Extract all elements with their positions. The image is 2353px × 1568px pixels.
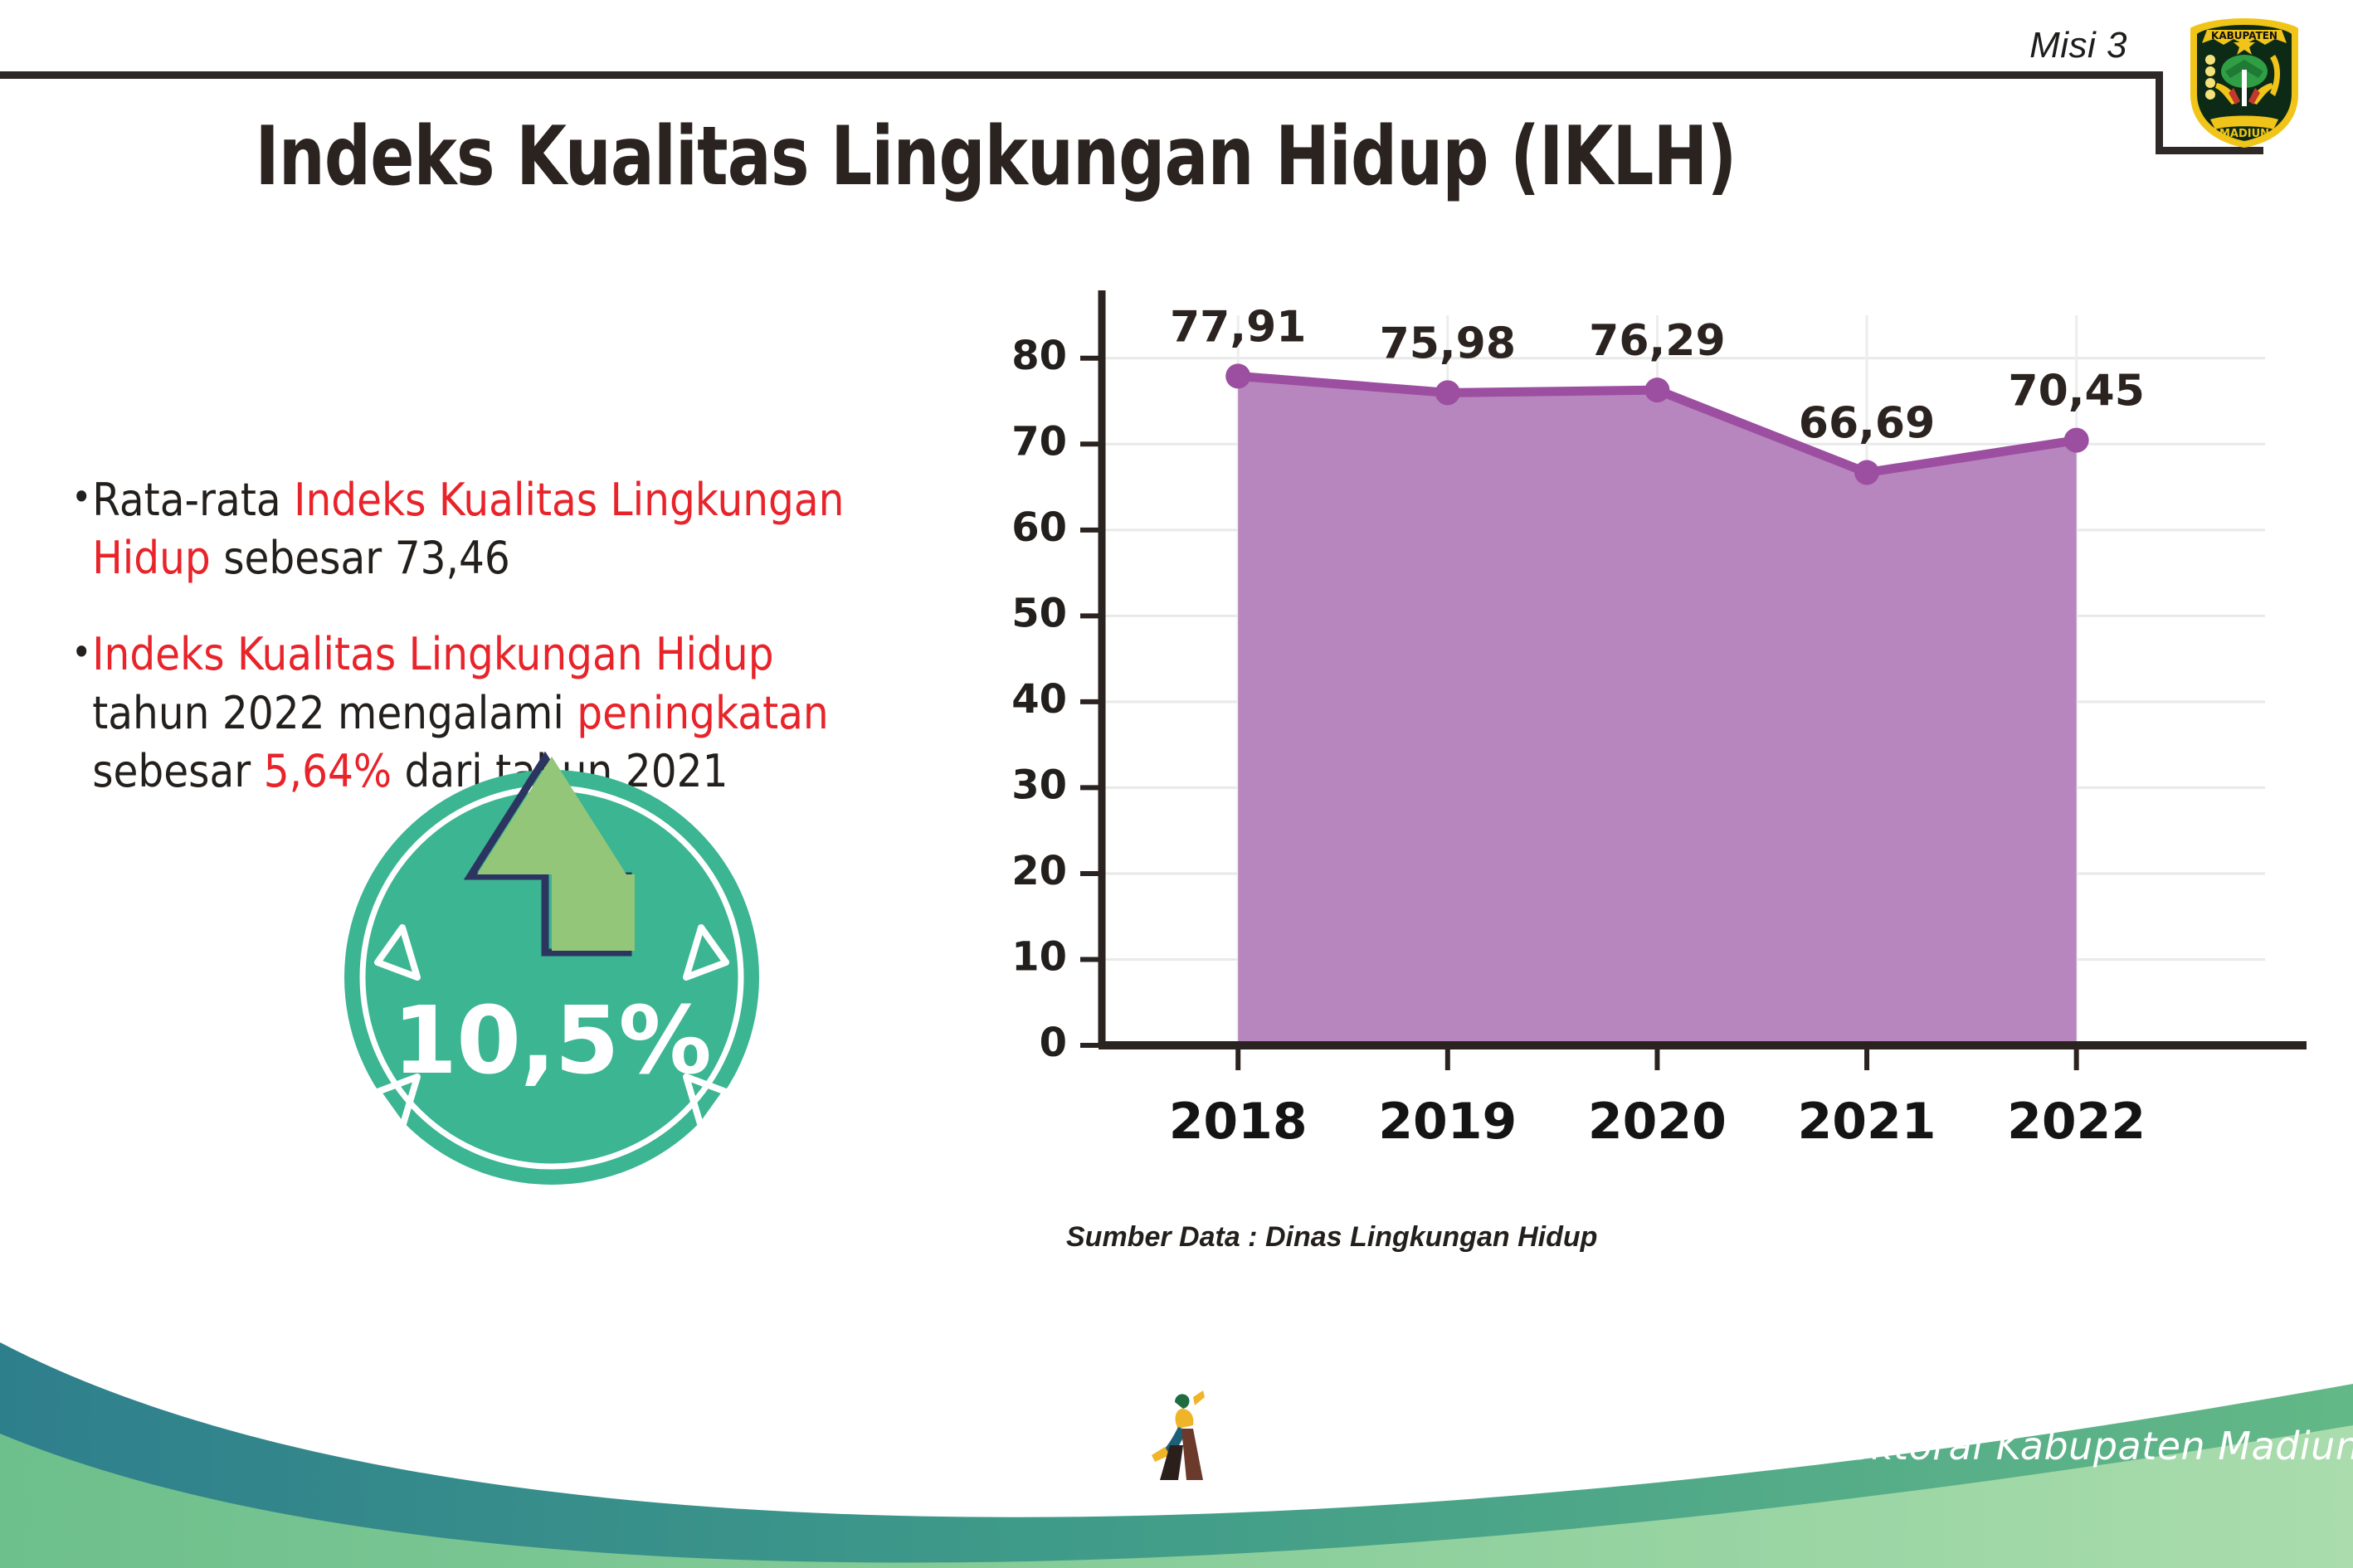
bullet-segment: sebesar 73,46 bbox=[211, 532, 510, 584]
bullet-text: Rata-rata Indeks Kualitas Lingkungan Hid… bbox=[71, 471, 885, 587]
data-point-marker bbox=[1435, 380, 1460, 405]
x-axis-category-label: 2022 bbox=[2007, 1093, 2146, 1151]
data-point-label: 70,45 bbox=[2008, 367, 2144, 416]
bullet-marker: • bbox=[71, 628, 91, 678]
data-point-marker bbox=[1225, 363, 1250, 388]
data-point-label: 76,29 bbox=[1589, 316, 1725, 366]
data-point-marker bbox=[1854, 460, 1879, 485]
crest-bottom-text: MADIUN bbox=[2219, 128, 2269, 140]
page-title: Indeks Kualitas Lingkungan Hidup (IKLH) bbox=[199, 110, 1792, 204]
y-axis-tick-label: 30 bbox=[1011, 762, 1067, 808]
footer-caption: Media Infografis Data Statistik Sektoral… bbox=[1220, 1424, 2353, 1468]
data-point-marker bbox=[2064, 428, 2089, 453]
x-axis-category-label: 2020 bbox=[1588, 1093, 1727, 1151]
list-item: • Rata-rata Indeks Kualitas Lingkungan H… bbox=[71, 471, 885, 587]
y-axis-tick-label: 60 bbox=[1011, 504, 1067, 551]
infographic-slide: Misi 3 MADIUN KABUPATEN Indeks Kualitas … bbox=[0, 0, 2353, 1568]
x-axis-category-label: 2021 bbox=[1798, 1093, 1936, 1151]
y-axis-tick-label: 70 bbox=[1011, 418, 1067, 465]
kabupaten-madiun-crest-icon: MADIUN KABUPATEN bbox=[2182, 12, 2307, 153]
badge-graphic bbox=[319, 728, 784, 1193]
bullet-segment: sebesar bbox=[92, 745, 264, 797]
x-axis-category-label: 2019 bbox=[1378, 1093, 1517, 1151]
data-point-marker bbox=[1644, 377, 1669, 402]
mission-label: Misi 3 bbox=[2029, 25, 2127, 66]
bullet-segment-highlight: Indeks Kualitas Lingkungan Hidup bbox=[92, 628, 773, 680]
badge-value: 10,5% bbox=[319, 987, 784, 1095]
y-axis-tick-label: 10 bbox=[1011, 933, 1067, 980]
data-point-label: 75,98 bbox=[1380, 319, 1516, 368]
data-point-label: 66,69 bbox=[1799, 399, 1935, 449]
y-axis-tick-label: 80 bbox=[1011, 333, 1067, 379]
y-axis-tick-label: 50 bbox=[1011, 590, 1067, 636]
chart-area-fill bbox=[1238, 376, 2076, 1045]
x-axis-category-label: 2018 bbox=[1169, 1093, 1308, 1151]
increase-badge: 10,5% bbox=[319, 728, 784, 1193]
y-axis-tick-label: 0 bbox=[1040, 1020, 1067, 1066]
header-frame-bracket bbox=[2156, 71, 2163, 154]
crest-top-text: KABUPATEN bbox=[2211, 30, 2277, 41]
y-axis-tick-label: 20 bbox=[1011, 848, 1067, 894]
iklh-area-chart: 77,9175,9876,2966,6970,45807060504030201… bbox=[979, 282, 2307, 1178]
bullet-segment: Rata-rata bbox=[92, 474, 294, 526]
source-note: Sumber Data : Dinas Lingkungan Hidup bbox=[1066, 1221, 1597, 1254]
bullet-marker: • bbox=[71, 473, 91, 523]
header-rule bbox=[0, 71, 2163, 79]
y-axis-tick-label: 40 bbox=[1011, 676, 1067, 723]
dancer-figure-icon bbox=[1145, 1387, 1220, 1487]
data-point-label: 77,91 bbox=[1170, 302, 1306, 352]
